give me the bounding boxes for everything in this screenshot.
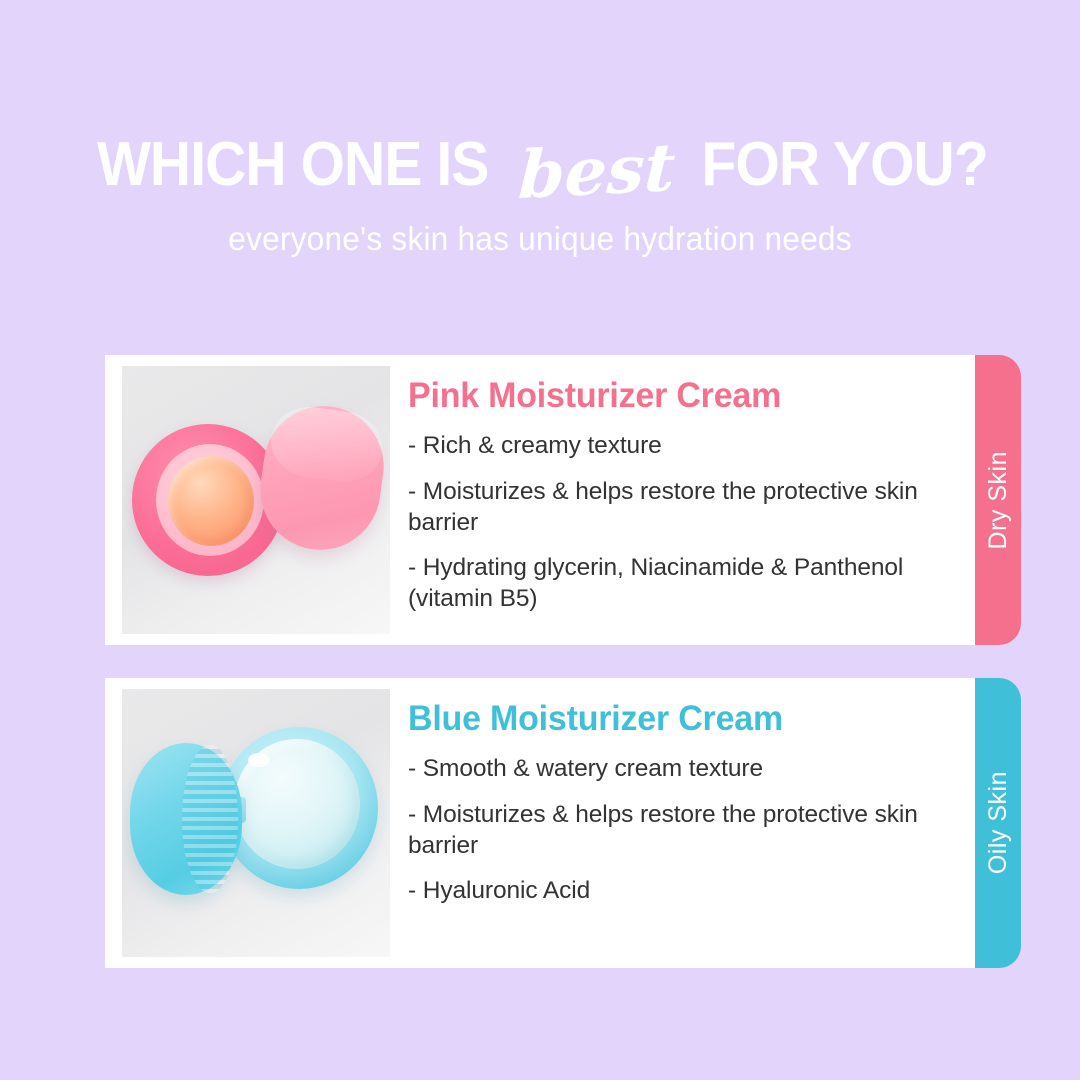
list-item: - Smooth & watery cream texture [408,754,941,785]
side-tab-label: Dry Skin [984,451,1013,549]
side-tab-dry-skin[interactable]: Dry Skin [975,355,1021,645]
pink-jar-inner-rim-icon [156,444,264,556]
pink-cream-jar-photo [122,366,390,634]
headline: WHICH ONE IS best FOR YOU? [0,132,1080,198]
blue-cream-jar-photo [122,689,390,957]
product-card-pink[interactable]: Pink Moisturizer Cream - Rich & creamy t… [105,355,975,645]
card-body-blue: Blue Moisturizer Cream - Smooth & watery… [390,678,975,968]
pink-cream-content-icon [168,456,254,546]
header: WHICH ONE IS best FOR YOU? everyone's sk… [0,0,1080,258]
card-body-pink: Pink Moisturizer Cream - Rich & creamy t… [390,355,975,645]
list-item: - Moisturizes & helps restore the protec… [408,800,941,862]
card-title-blue: Blue Moisturizer Cream [408,700,925,738]
card-title-pink: Pink Moisturizer Cream [408,377,925,415]
blue-gel-content-icon [234,739,360,869]
list-item: - Hyaluronic Acid [408,876,941,907]
list-item: - Hydrating glycerin, Niacinamide & Pant… [408,553,941,615]
product-photo-wrapper [105,678,390,968]
product-card-list: Pink Moisturizer Cream - Rich & creamy t… [105,355,975,1001]
list-item: - Moisturizes & helps restore the protec… [408,477,941,539]
side-tab-oily-skin[interactable]: Oily Skin [975,678,1021,968]
subheadline: everyone's skin has unique hydration nee… [22,220,1059,258]
feature-list-pink: - Rich & creamy texture - Moisturizes & … [408,431,941,615]
headline-suffix: FOR YOU? [701,134,987,196]
product-card-blue[interactable]: Blue Moisturizer Cream - Smooth & watery… [105,678,975,968]
list-item: - Rich & creamy texture [408,431,941,462]
headline-script-word: best [503,133,691,209]
blue-jar-lid-icon [130,743,242,895]
feature-list-blue: - Smooth & watery cream texture - Moistu… [408,754,941,907]
side-tab-label: Oily Skin [984,771,1013,874]
product-photo-wrapper [105,355,390,645]
headline-prefix: WHICH ONE IS [97,134,488,196]
